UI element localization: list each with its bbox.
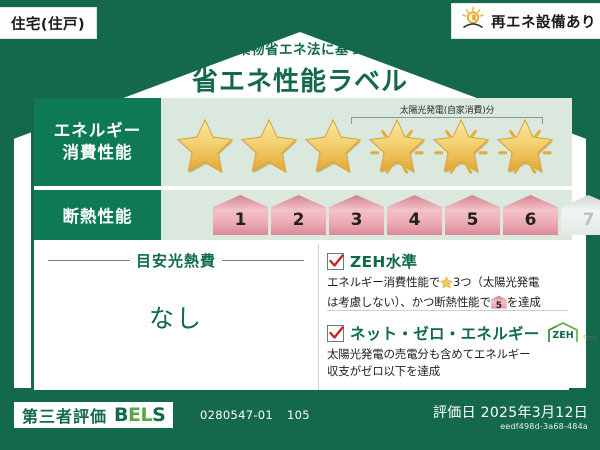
energy-performance-label: 住宅(住戸) 再エネ設備あり 建築物省エネ法に基づく 省エネ性能ラベル	[0, 0, 600, 450]
evaluation-date-value: 2025年3月12日	[481, 405, 588, 421]
insulation-performance-row: 断熱性能 1234567	[34, 190, 572, 240]
bels-chip: 第三者評価 BELS	[14, 402, 173, 428]
insulation-grade-strip: 1234567	[213, 195, 600, 235]
evaluation-date-label: 評価日	[433, 405, 476, 421]
evaluation-date: 評価日 2025年3月12日	[433, 402, 588, 422]
utility-cost-header: 目安光熱費	[34, 250, 318, 271]
energy-label-line2: 消費性能	[63, 142, 133, 164]
zeh-netzero-block: ネット・ゼロ・エネルギー ZEH 「ZEH」 太陽光発電の売電分も含めてエネルギ…	[327, 322, 568, 379]
building-type-badge: 住宅(住戸)	[0, 8, 96, 38]
content-panel: エネルギー 消費性能 太陽光発電(自家消費)分	[31, 98, 569, 390]
sun-solar-icon	[460, 6, 486, 36]
renewable-equipment-badge: 再エネ設備あり	[452, 4, 600, 38]
label-title-block: 建築物省エネ法に基づく 省エネ性能ラベル	[0, 38, 600, 98]
bels-logo: BELS	[114, 404, 165, 426]
utility-cost-column: 目安光熱費 なし	[34, 244, 318, 390]
star-icon-filled	[302, 116, 364, 176]
utility-cost-title: 目安光熱費	[136, 250, 216, 271]
building-type-label: 住宅(住戸)	[11, 13, 85, 34]
zeh-netzero-line2: 収支がゼロ以下を達成	[327, 364, 440, 378]
grade-value: 2	[293, 210, 305, 230]
lower-section: 目安光熱費 なし ZEH水準 エネ	[34, 244, 572, 390]
zeh-desc-part1: エネルギー消費性能で	[327, 275, 440, 289]
grade-value: 3	[351, 210, 363, 230]
zeh-netzero-line1: 太陽光発電の売電分も含めてエネルギー	[327, 347, 530, 361]
insulation-grade-area: 1234567	[161, 190, 572, 240]
zeh-column: ZEH水準 エネルギー消費性能で3つ（太陽光発電 は考慮しない）、かつ断熱性能で…	[318, 244, 572, 390]
zeh-netzero-header: ネット・ゼロ・エネルギー ZEH 「ZEH」	[327, 322, 568, 344]
zeh-netzero-title: ネット・ゼロ・エネルギー	[350, 322, 540, 344]
grade-value: 1	[235, 210, 247, 230]
zeh-logo: ZEH 「ZEH」	[546, 322, 600, 344]
rule-right	[222, 260, 304, 261]
star-rating-area: 太陽光発電(自家消費)分	[161, 98, 572, 186]
bels-part2: EL	[128, 404, 152, 426]
insulation-grade-badge: 6	[503, 195, 558, 235]
check-icon-zeh-standard	[327, 253, 344, 270]
inline-grade-value: 5	[496, 301, 502, 311]
third-party-label: 第三者評価	[22, 403, 107, 427]
registration-sub-value: 105	[287, 408, 310, 422]
rule-left	[48, 260, 130, 261]
inline-star-icon	[440, 278, 453, 292]
insulation-grade-badge: 4	[387, 195, 442, 235]
grade-value: 6	[525, 210, 537, 230]
registration-number: 0280547-01105	[200, 408, 310, 422]
grade-value: 5	[467, 210, 479, 230]
insulation-label: 断熱性能	[63, 203, 133, 227]
star-icon-filled	[174, 116, 236, 176]
grade-value: 7	[583, 210, 595, 230]
zeh-standard-block: ZEH水準 エネルギー消費性能で3つ（太陽光発電 は考慮しない）、かつ断熱性能で…	[327, 250, 568, 310]
renewable-badge-label: 再エネ設備あり	[491, 11, 596, 32]
insulation-grade-badge: 1	[213, 195, 268, 235]
insulation-grade-badge: 2	[271, 195, 326, 235]
registration-number-value: 0280547-01	[200, 408, 273, 422]
footer-bar: 第三者評価 BELS 0280547-01105 評価日 2025年3月12日 …	[0, 394, 600, 450]
insulation-grade-badge: 3	[329, 195, 384, 235]
zeh-desc-part3: は考慮しない）、かつ断熱性能で	[327, 295, 491, 309]
bels-part1: B	[114, 404, 128, 426]
zeh-standard-title: ZEH水準	[350, 250, 417, 272]
title-subtitle: 建築物省エネ法に基づく	[0, 38, 600, 58]
insulation-grade-badge: 5	[445, 195, 500, 235]
zeh-standard-header: ZEH水準	[327, 250, 568, 272]
zeh-netzero-description: 太陽光発電の売電分も含めてエネルギー 収支がゼロ以下を達成	[327, 346, 568, 379]
inline-grade-badge: 5	[491, 296, 507, 309]
zeh-logo-trademark: 「ZEH」	[581, 335, 600, 342]
page-title: 省エネ性能ラベル	[0, 61, 600, 98]
svg-text:ZEH: ZEH	[552, 330, 573, 341]
energy-label-line1: エネルギー	[54, 120, 142, 142]
grade-value: 4	[409, 210, 421, 230]
insulation-grade-badge: 7	[561, 195, 600, 235]
evaluation-hash: eedf498d-3a68-484a	[500, 422, 588, 431]
star-icon-filled	[238, 116, 300, 176]
solar-bracket-label: 太陽光発電(自家消費)分	[351, 103, 543, 116]
zeh-desc-part2: 3つ（太陽光発電	[453, 275, 539, 289]
energy-performance-label-box: エネルギー 消費性能	[34, 98, 161, 186]
utility-cost-value: なし	[34, 299, 318, 335]
star-icon-solar	[430, 116, 492, 176]
star-icon-solar	[494, 116, 556, 176]
zeh-divider	[327, 310, 568, 311]
bels-part3: S	[152, 404, 165, 426]
insulation-performance-label-box: 断熱性能	[34, 190, 161, 240]
zeh-desc-part4: を達成	[507, 295, 541, 309]
zeh-standard-description: エネルギー消費性能で3つ（太陽光発電 は考慮しない）、かつ断熱性能で5を達成	[327, 274, 568, 310]
star-strip	[174, 116, 556, 176]
check-icon-zeh-netzero	[327, 325, 344, 342]
energy-performance-row: エネルギー 消費性能 太陽光発電(自家消費)分	[34, 98, 572, 186]
star-icon-solar	[366, 116, 428, 176]
